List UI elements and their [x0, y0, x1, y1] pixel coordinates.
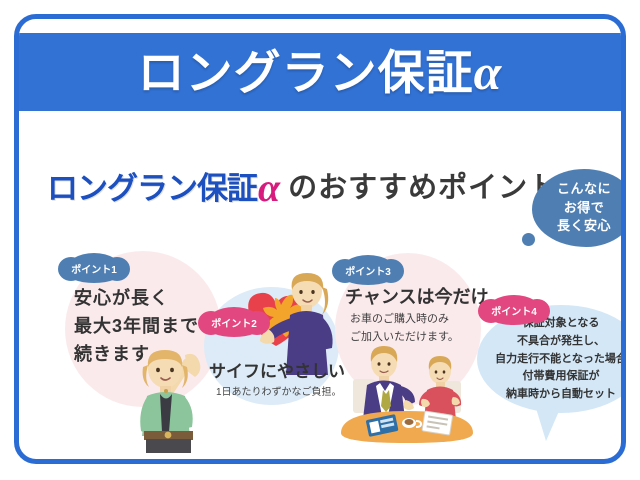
banner-title: ロングラン保証α — [138, 47, 503, 97]
point-1-headline-line-2: 最大3年間まで — [74, 313, 199, 341]
point-1-badge: ポイント1 — [65, 253, 123, 283]
header-banner: ロングラン保証α — [19, 33, 621, 111]
point-1-headline-line-1: 安心が長く — [74, 285, 199, 313]
point-2-subtext: 1日あたりわずかなご負担。 — [216, 386, 342, 400]
point-4-headline-line-5: 納車時から自動セット — [477, 386, 626, 404]
point-4-headline: 保証対象となる 不具合が発生し、 自力走行不能となった場合 付帯費用保証が 納車… — [477, 315, 626, 404]
point-3-headline: チャンスは今だけ — [345, 285, 488, 310]
point-3-badge: ポイント3 — [339, 255, 397, 285]
subtitle-alpha: α — [258, 168, 280, 208]
point-3-headline-line-1: チャンスは今だけ — [345, 285, 488, 310]
point-4-headline-line-3: 自力走行不能となった場合 — [477, 351, 626, 369]
point-1-headline: 安心が長く 最大3年間まで 続きます — [74, 285, 199, 369]
point-4-badge: ポイント4 — [485, 295, 543, 325]
point-1-badge-label: ポイント1 — [71, 261, 117, 276]
point-3-subtext-line-2: ご加入いただけます。 — [350, 329, 459, 347]
point-4-headline-line-4: 付帯費用保証が — [477, 368, 626, 386]
point-4-headline-line-2: 不具合が発生し、 — [477, 333, 626, 351]
thought-bubble: こんなに お得で 長く安心 — [532, 169, 626, 247]
point-2-badge: ポイント2 — [205, 307, 263, 337]
point-4-badge-label: ポイント4 — [491, 303, 537, 318]
thought-bubble-dot — [522, 233, 535, 246]
point-2-headline: サイフにやさしい — [209, 360, 345, 384]
promotional-poster: ロングラン保証α ロングラン保証αのおすすめポイント こんなに お得で 長く安心… — [0, 0, 640, 480]
thought-bubble-line-1: こんなに — [557, 180, 611, 199]
subtitle-brand: ロングラン保証 — [47, 163, 257, 208]
point-2-badge-label: ポイント2 — [211, 315, 257, 330]
point-3-subtext: お車のご購入時のみ ご加入いただけます。 — [350, 311, 459, 346]
subtitle: ロングラン保証αのおすすめポイント — [47, 159, 567, 211]
banner-title-alpha: α — [474, 44, 503, 100]
point-3-subtext-line-1: お車のご購入時のみ — [350, 311, 459, 329]
point-2-headline-line-1: サイフにやさしい — [209, 360, 345, 384]
point-3-badge-label: ポイント3 — [345, 263, 391, 278]
couple-at-table-illustration — [337, 345, 477, 445]
banner-title-main: ロングラン保証 — [138, 46, 474, 99]
point-1-headline-line-3: 続きます — [74, 341, 199, 369]
thought-bubble-line-2: お得で — [564, 199, 605, 218]
point-2-subtext-line-1: 1日あたりわずかなご負担。 — [216, 386, 342, 400]
thought-bubble-line-3: 長く安心 — [557, 217, 611, 236]
poster-frame: ロングラン保証α ロングラン保証αのおすすめポイント こんなに お得で 長く安心… — [14, 14, 626, 464]
subtitle-rest: のおすすめポイント — [288, 164, 558, 206]
